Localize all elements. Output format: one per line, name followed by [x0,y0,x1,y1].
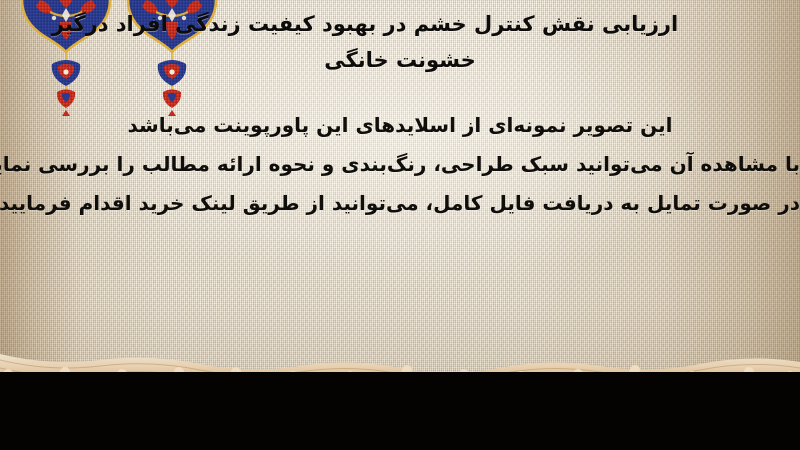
fringe-black-backdrop [0,372,800,450]
slide-title-line-1: ارزیابی نقش کنترل خشم در بهبود کیفیت زند… [18,6,782,42]
powerpoint-slide: ارزیابی نقش کنترل خشم در بهبود کیفیت زند… [0,0,800,450]
slide-body-line-1: این تصویر نمونه‌ای از اسلایدهای این پاور… [0,106,800,145]
slide-title: ارزیابی نقش کنترل خشم در بهبود کیفیت زند… [18,6,782,78]
slide-body-line-3: در صورت تمایل به دریافت فایل کامل، می‌تو… [0,184,800,223]
slide-title-line-2: خشونت خانگی [18,42,782,78]
slide-body-line-2: با مشاهده آن می‌توانید سبک طراحی، رنگ‌بن… [0,145,800,184]
slide-body-text: این تصویر نمونه‌ای از اسلایدهای این پاور… [0,106,800,223]
carpet-fringe [0,352,800,450]
slide-text-layer: ارزیابی نقش کنترل خشم در بهبود کیفیت زند… [0,0,800,380]
